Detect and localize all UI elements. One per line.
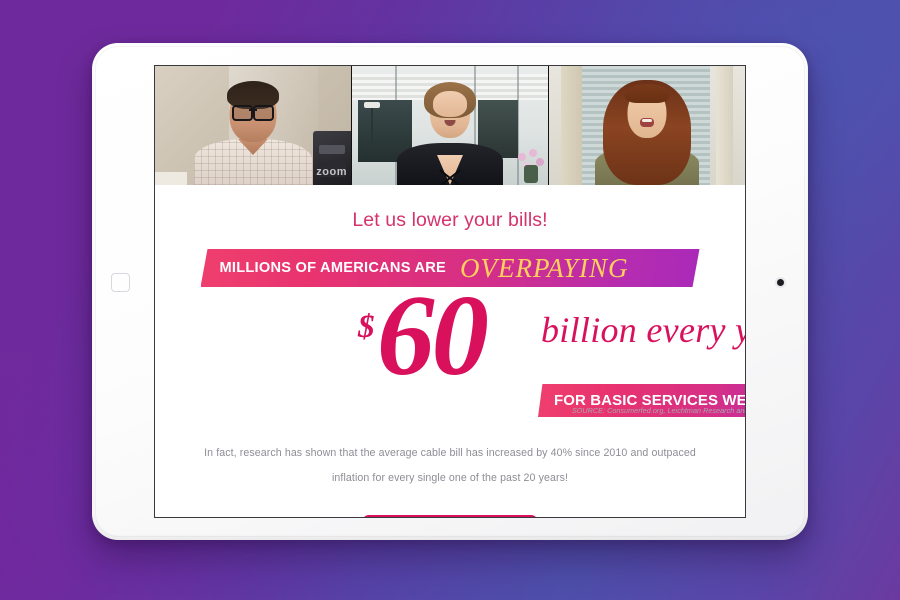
supporting-paragraph-line-1: In fact, research has shown that the ave… <box>200 441 700 466</box>
wall-column <box>716 66 734 185</box>
currency-symbol: $ <box>358 309 375 346</box>
source-citation: SOURCE: Consumerfed.org, Leichtman Resea… <box>538 406 746 415</box>
participant-hair <box>424 82 476 118</box>
landing-page-content: Let us lower your bills! MILLIONS OF AME… <box>155 185 745 518</box>
participant-fringe <box>625 84 669 103</box>
supporting-paragraph: In fact, research has shown that the ave… <box>200 441 700 491</box>
video-tile-participant-2[interactable] <box>352 66 549 185</box>
page-tagline: Let us lower your bills! <box>155 209 745 232</box>
tablet-screen: zoom <box>154 65 746 518</box>
cta-button[interactable] <box>362 515 538 518</box>
desk-surface <box>155 172 187 185</box>
front-camera-icon <box>777 279 784 286</box>
tablet-device: zoom <box>92 43 808 540</box>
wall-column <box>561 66 583 185</box>
desk-lamp <box>364 102 380 108</box>
eyeglasses-icon <box>232 105 274 118</box>
zoom-watermark: zoom <box>316 166 347 178</box>
home-button-icon[interactable] <box>111 273 130 292</box>
statistic-block: $ 60 billion every year FOR BASIC SERVIC… <box>155 293 745 411</box>
participant-mouth <box>640 118 654 127</box>
video-tile-participant-3[interactable] <box>549 66 745 185</box>
video-call-grid: zoom <box>155 66 745 185</box>
statistic-unit: billion every year <box>541 309 746 351</box>
supporting-paragraph-line-2: inflation for every single one of the pa… <box>200 466 700 491</box>
video-tile-participant-1[interactable]: zoom <box>155 66 352 185</box>
statistic-amount: 60 <box>377 278 486 393</box>
poster-background: zoom <box>0 0 900 600</box>
flower-plant <box>516 149 546 183</box>
